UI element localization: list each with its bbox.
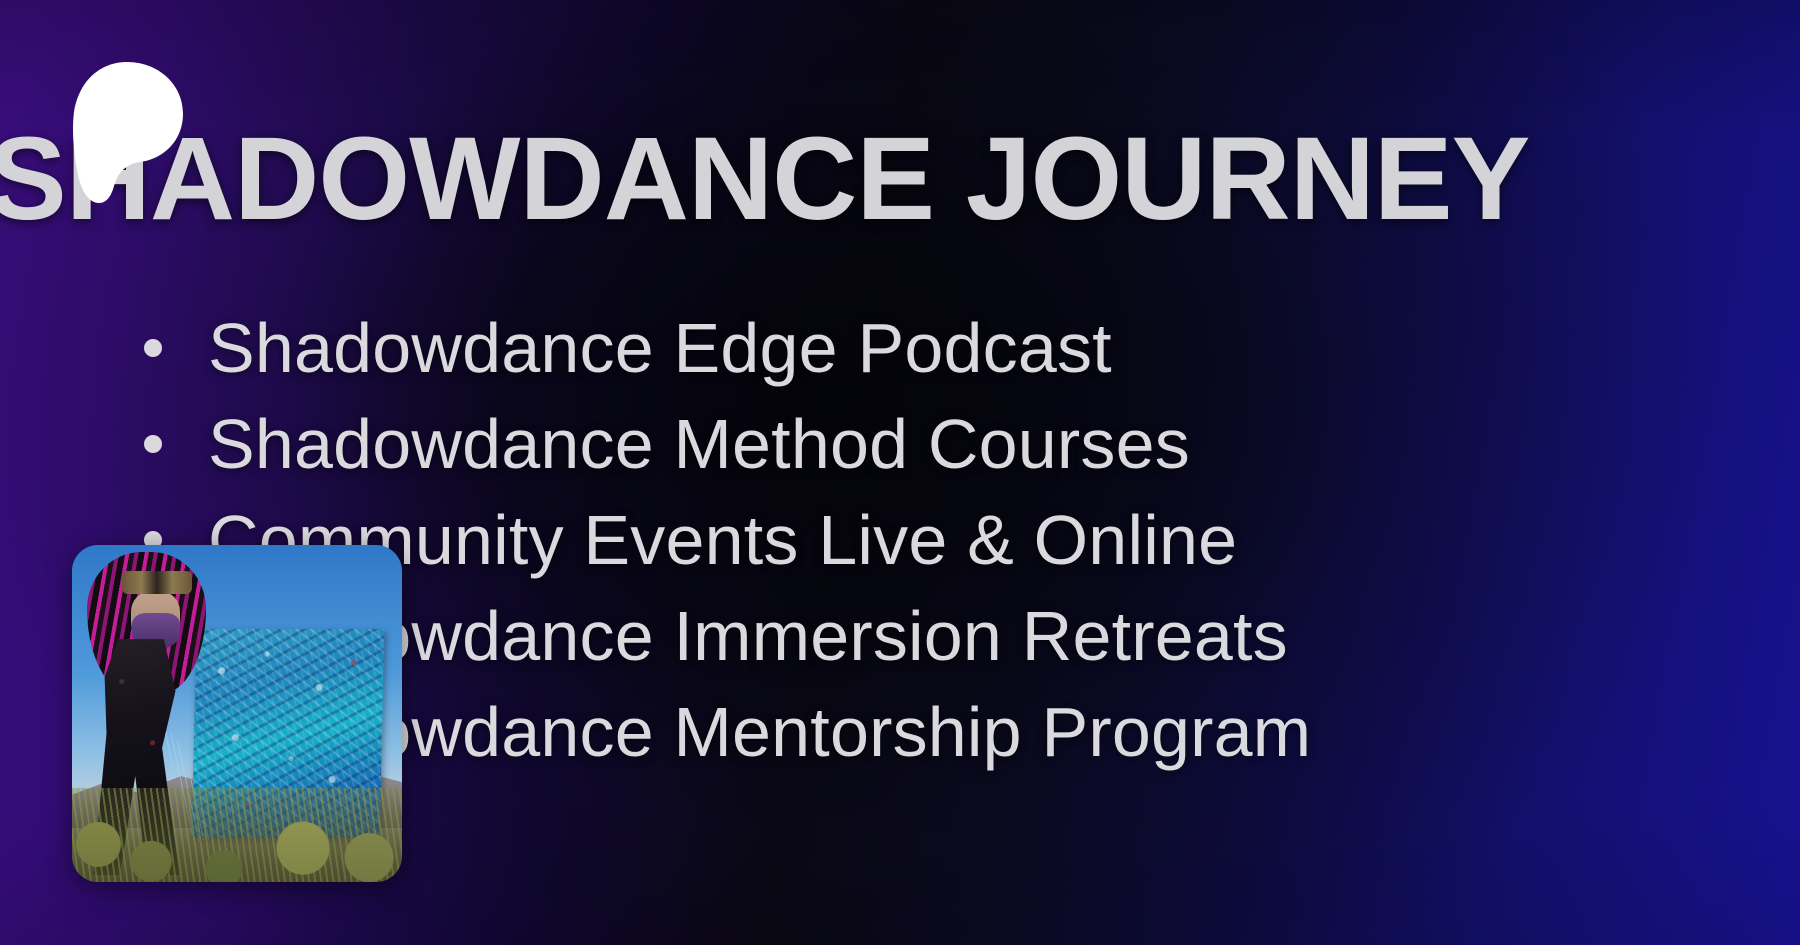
offering-label: Shadowdance Method Courses [208,405,1190,483]
offering-label: Shadowdance Edge Podcast [208,309,1112,387]
slide-canvas: SHADOWDANCE JOURNEY Shadowdance Edge Pod… [0,0,1800,945]
photo-image [72,545,402,882]
list-item: Shadowdance Edge Podcast [140,300,1311,396]
list-item: Shadowdance Method Courses [140,396,1311,492]
page-title: SHADOWDANCE JOURNEY [0,120,1800,238]
photo-overlay [72,545,402,882]
patreon-logo-icon [70,58,186,206]
photo-thumbnail[interactable] [72,545,402,882]
